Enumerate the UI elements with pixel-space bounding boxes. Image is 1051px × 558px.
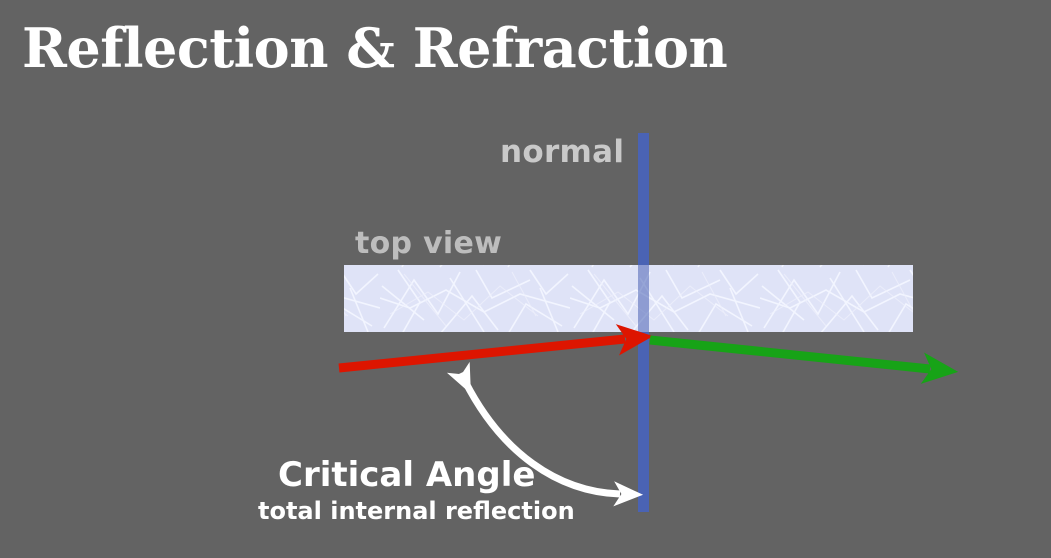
normal-label: normal	[500, 134, 624, 170]
normal-line-upper	[638, 133, 649, 265]
incident-ray	[339, 339, 625, 368]
normal-line-lower	[638, 332, 649, 512]
glass-slab	[344, 265, 913, 332]
top-view-label: top view	[355, 226, 502, 261]
refracted-ray	[650, 340, 930, 369]
total-internal-reflection-label: total internal reflection	[258, 497, 575, 525]
critical-angle-label: Critical Angle	[278, 455, 535, 495]
diagram-canvas: Reflection & Refraction	[0, 0, 1051, 558]
normal-line-through-glass	[638, 265, 649, 332]
